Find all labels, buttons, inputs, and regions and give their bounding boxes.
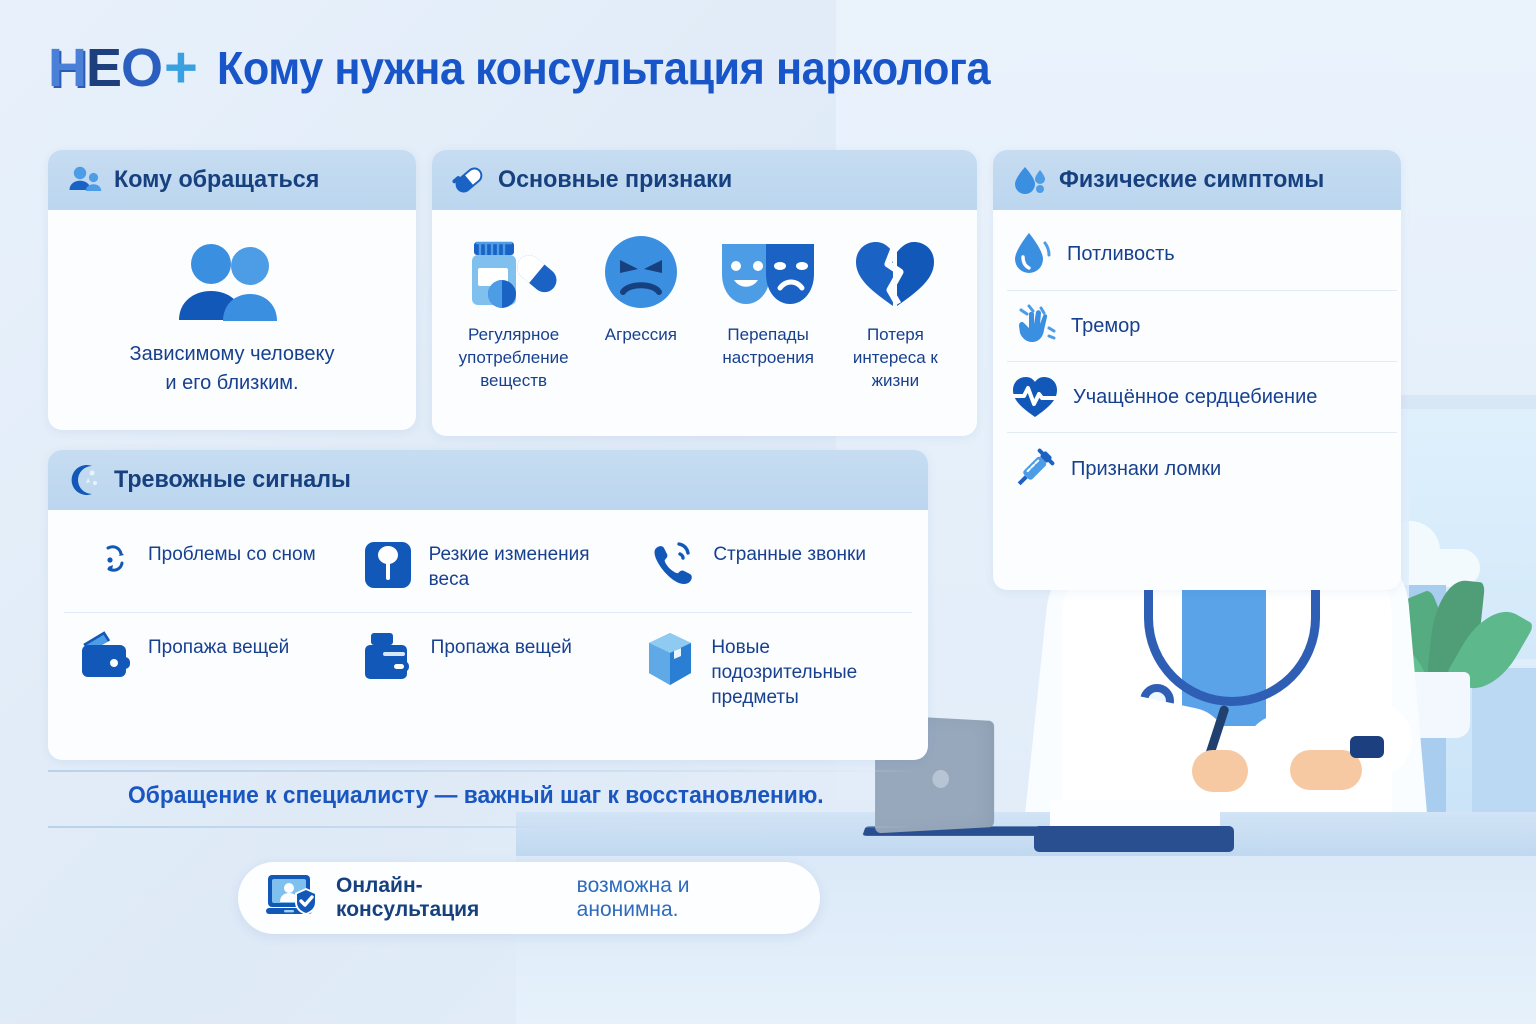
water-drops-icon: [1013, 165, 1047, 195]
wallet-icon: [78, 631, 134, 681]
online-consult-badge[interactable]: Онлайн-консультация возможна и анонимна.: [238, 862, 820, 934]
card-alarm-signals: Тревожные сигналы Проблемы со сном: [48, 450, 928, 760]
logo-plus-icon: +: [164, 34, 197, 101]
alarm-item: Проблемы со сном: [64, 520, 347, 612]
two-people-icon: [68, 166, 102, 194]
drop-icon: [1011, 231, 1053, 277]
angry-face-icon: [598, 234, 684, 312]
box-icon: [643, 631, 697, 687]
logo-letter-e: Е: [86, 37, 121, 99]
footer-divider-top: [48, 770, 916, 772]
logo-letter-n: Н: [48, 37, 86, 99]
alarm-label: Новые подозрительные предметы: [711, 631, 898, 710]
card-alarm-body: Проблемы со сном Резкие изменения веса: [48, 510, 928, 734]
sign-item: Регулярное употребление веществ: [452, 234, 575, 393]
alarm-label: Резкие изменения веса: [429, 538, 616, 592]
alarm-item: Странные звонки: [629, 520, 912, 612]
card-signs-header: Основные признаки: [432, 150, 977, 210]
page-title: Кому нужна консультация нарколога: [217, 41, 990, 95]
phys-label: Учащённое сердцебиение: [1073, 384, 1317, 410]
signs-grid: Регулярное употребление веществ Агрессия: [452, 228, 957, 393]
card-physical-symptoms: Физические симптомы Потливость Тремор: [993, 150, 1401, 590]
sign-label: Регулярное употребление веществ: [452, 324, 575, 393]
laptop-logo: [932, 770, 949, 788]
clipboard: [1034, 826, 1234, 852]
footer-divider-bottom: [48, 826, 916, 828]
page-header: Н Е О + Кому нужна консультация нарколог…: [48, 34, 1039, 101]
sign-label: Перепады настроения: [707, 324, 830, 370]
building: [1472, 665, 1536, 815]
sign-item: Агрессия: [579, 234, 702, 393]
card-who-text: Зависимому человеку и его близким.: [130, 340, 335, 398]
list-item: Тремор: [1007, 290, 1397, 361]
alarm-item: Резкие изменения веса: [347, 520, 630, 612]
infographic-canvas: Н Е О + Кому нужна консультация нарколог…: [0, 0, 1536, 1024]
card-phys-header: Физические симптомы: [993, 150, 1401, 210]
who-text-line1: Зависимому человеку: [130, 340, 335, 369]
wrist-watch: [1350, 736, 1384, 758]
logo-letter-o: О: [121, 37, 162, 99]
moon-sleep-icon: [78, 538, 134, 592]
pill-bottle-icon: [462, 234, 566, 312]
list-item: Признаки ломки: [1007, 432, 1397, 505]
shaking-hand-icon: [1011, 304, 1057, 348]
badge-light-text: возможна и анонимна.: [577, 874, 794, 922]
card-main-signs: Основные признаки: [432, 150, 977, 436]
brand-logo: Н Е О +: [48, 34, 197, 101]
card-signs-title: Основные признаки: [498, 166, 732, 194]
card-who-to-contact: Кому обращаться Зависимому человеку и ег…: [48, 150, 416, 430]
theater-masks-icon: [716, 234, 820, 312]
sign-item: Потеря интереса к жизни: [834, 234, 957, 393]
phone-ring-icon: [643, 538, 699, 592]
phys-label: Тремор: [1071, 313, 1140, 339]
alarm-label: Странные звонки: [713, 538, 866, 567]
sign-label: Потеря интереса к жизни: [834, 324, 957, 393]
scale-icon: [361, 538, 415, 592]
phys-label: Потливость: [1067, 241, 1175, 267]
two-people-large-icon: [173, 242, 291, 324]
card-alarm-title: Тревожные сигналы: [114, 466, 351, 494]
heartbeat-icon: [1011, 375, 1059, 419]
alarm-item: Новые подозрительные предметы: [629, 612, 912, 728]
syringe-icon: [1011, 446, 1057, 492]
footer-statement: Обращение к специалисту — важный шаг к в…: [128, 782, 824, 810]
alarm-label: Пропажа вещей: [148, 631, 289, 660]
moon-icon: [68, 464, 102, 496]
bag-icon: [361, 631, 417, 683]
card-signs-body: Регулярное употребление веществ Агрессия: [432, 210, 977, 411]
list-item: Потливость: [1007, 218, 1397, 290]
pills-icon: [452, 165, 486, 195]
alarm-grid: Проблемы со сном Резкие изменения веса: [62, 516, 914, 728]
sign-label: Агрессия: [605, 324, 677, 347]
badge-strong-text: Онлайн-консультация: [336, 874, 563, 922]
alarm-label: Проблемы со сном: [148, 538, 316, 567]
card-who-body: Зависимому человеку и его близким.: [48, 210, 416, 430]
alarm-item: Пропажа вещей: [347, 612, 630, 728]
broken-heart-icon: [850, 234, 940, 312]
card-alarm-header: Тревожные сигналы: [48, 450, 928, 510]
phys-list: Потливость Тремор Учащённое сердцебиение: [993, 210, 1401, 505]
alarm-label: Пропажа вещей: [431, 631, 572, 660]
list-item: Учащённое сердцебиение: [1007, 361, 1397, 432]
online-consult-icon: [264, 872, 322, 924]
card-phys-title: Физические симптомы: [1059, 166, 1324, 194]
who-text-line2: и его близким.: [130, 369, 335, 398]
sign-item: Перепады настроения: [707, 234, 830, 393]
card-who-title: Кому обращаться: [114, 166, 319, 194]
phys-label: Признаки ломки: [1071, 456, 1221, 482]
card-who-header: Кому обращаться: [48, 150, 416, 210]
alarm-item: Пропажа вещей: [64, 612, 347, 728]
